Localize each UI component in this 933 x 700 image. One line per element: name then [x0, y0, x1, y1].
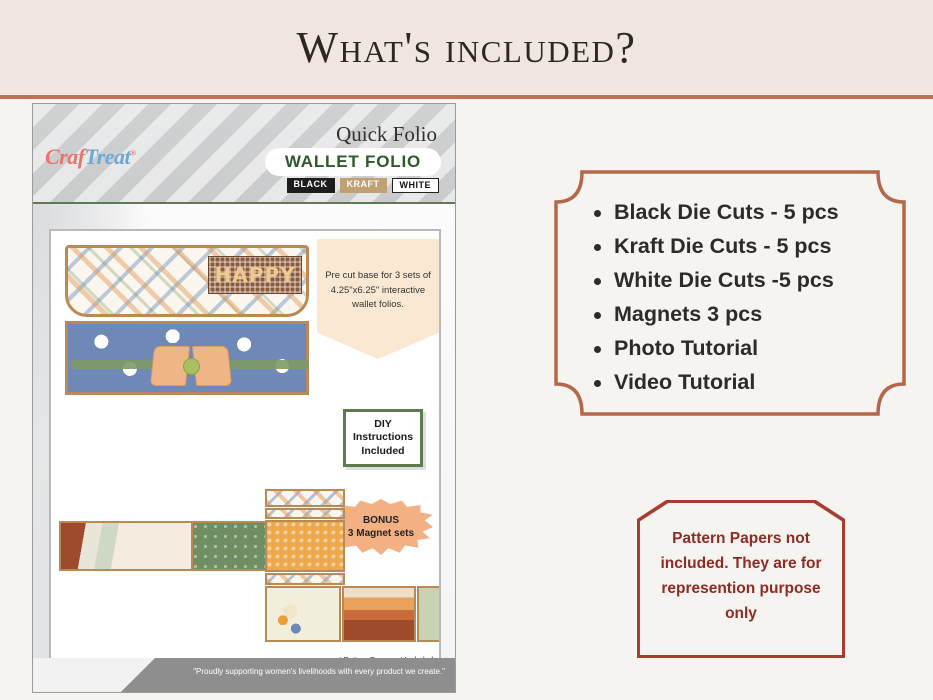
wallet-folio-photo: HAPPY [65, 245, 309, 395]
list-item: Magnets 3 pcs [592, 298, 892, 332]
diy-instructions-badge: DIY Instructions Included [343, 409, 423, 467]
pattern-paper-note-box: Pattern Papers not included. They are fo… [637, 500, 845, 658]
pattern-paper-note-text: Pattern Papers not included. They are fo… [649, 526, 833, 626]
folio-panel-plaid-bottom [265, 573, 345, 585]
bow-knot [183, 358, 200, 375]
list-item: Video Tutorial [592, 366, 892, 400]
product-line-label: Quick Folio [336, 122, 437, 147]
list-item: Black Die Cuts - 5 pcs [592, 196, 892, 230]
page-header: What's included? [0, 0, 933, 95]
list-item: White Die Cuts -5 pcs [592, 264, 892, 298]
product-name-label: WALLET FOLIO [265, 148, 441, 176]
folio-panel-orange [265, 520, 345, 572]
badge-black: BLACK [287, 178, 335, 193]
unfolded-folio-photo [55, 471, 355, 661]
precut-info-pennant: Pre cut base for 3 sets of 4.25"x6.25" i… [317, 239, 439, 359]
badge-white: WHITE [392, 178, 440, 193]
package-photo-panel: HAPPY Pre cut base for 3 sets of 4.25"x6… [49, 229, 441, 669]
list-item: Photo Tutorial [592, 332, 892, 366]
folio-panel-floral [265, 586, 341, 642]
folio-panel-plaid-top2 [265, 508, 345, 519]
folio-bow-icon [152, 346, 230, 384]
bonus-title: BONUS [363, 514, 399, 527]
folio-floral-body [65, 321, 309, 395]
precut-info-text: Pre cut base for 3 sets of 4.25"x6.25" i… [324, 269, 432, 313]
footer-wedge-shape [33, 658, 155, 692]
product-package-image: CrafTreat® Quick Folio WALLET FOLIO BLAC… [32, 103, 456, 693]
header-divider [0, 95, 933, 99]
folio-panel-strip [59, 521, 193, 571]
folio-panel-green [191, 521, 267, 571]
craftreat-logo: CrafTreat® [45, 144, 136, 170]
folio-panel-sage [417, 586, 441, 642]
folio-panel-plaid-top [265, 489, 345, 507]
page-title: What's included? [297, 22, 637, 73]
bonus-subtitle: 3 Magnet sets [348, 527, 414, 540]
folio-plaid-flap: HAPPY [65, 245, 309, 317]
badge-kraft: KRAFT [340, 178, 387, 193]
color-variant-badges: BLACK KRAFT WHITE [287, 178, 440, 193]
list-item: Kraft Die Cuts - 5 pcs [592, 230, 892, 264]
included-items-list: Black Die Cuts - 5 pcs Kraft Die Cuts - … [592, 196, 892, 400]
footer-tagline: "Proudly supporting women's livelihoods … [193, 667, 445, 676]
brand-part-one: Craf [45, 144, 85, 169]
included-items-frame: Black Die Cuts - 5 pcs Kraft Die Cuts - … [552, 168, 908, 418]
happy-word-label: HAPPY [208, 256, 302, 294]
brand-part-two: Treat [85, 144, 131, 169]
package-header-band: CrafTreat® Quick Folio WALLET FOLIO BLAC… [33, 104, 455, 204]
registered-mark-icon: ® [130, 149, 135, 158]
folio-panel-brown [342, 586, 416, 642]
package-footer-band: "Proudly supporting women's livelihoods … [33, 658, 455, 692]
